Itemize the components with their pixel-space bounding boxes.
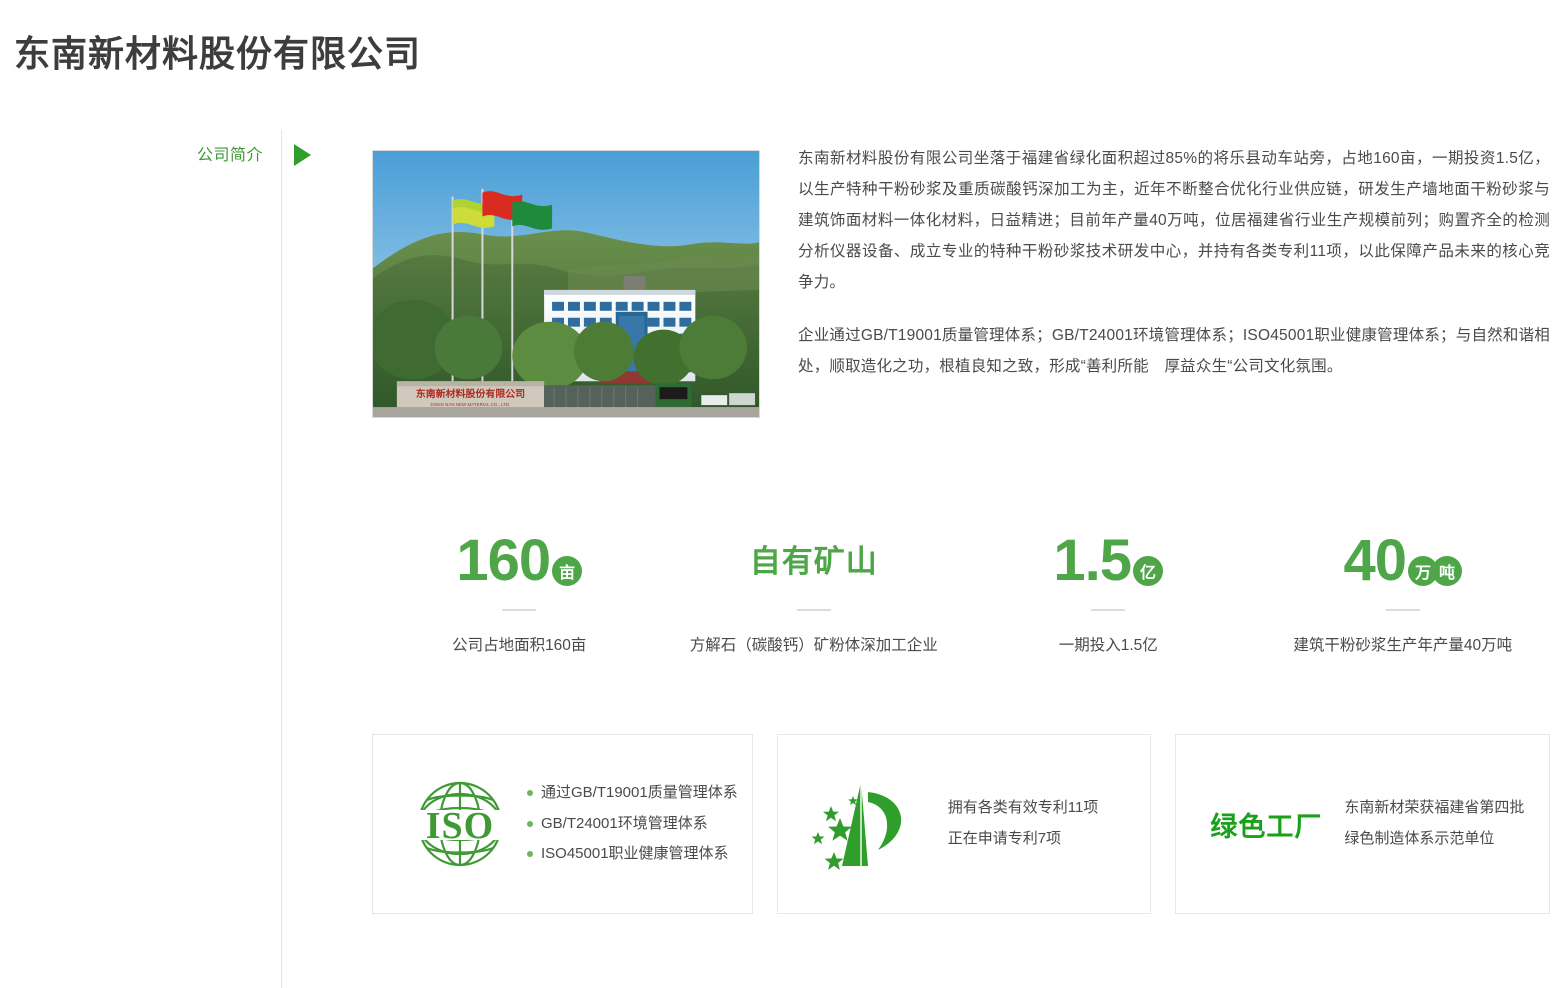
stat-headline: 160 亩 — [372, 525, 667, 597]
stat-headline: 自有矿山 — [667, 525, 962, 597]
iso-certification-card: ISO 通过GB/T19001质量管理体系 GB/T24001环境管理体系 IS… — [372, 734, 753, 914]
vertical-divider — [281, 130, 282, 988]
list-item: 通过GB/T19001质量管理体系 — [541, 778, 738, 809]
stat-item: 40 万 吨 建筑干粉砂浆生产年产量40万吨 — [1256, 525, 1551, 655]
patent-card-body: 拥有各类有效专利11项 正在申请专利7项 — [930, 793, 1137, 855]
stat-unit-badge: 亿 — [1133, 556, 1163, 586]
svg-text:ISO: ISO — [426, 805, 494, 847]
stat-divider — [797, 609, 831, 611]
green-factory-line-1: 东南新材荣获福建省第四批 — [1344, 793, 1535, 824]
list-item: ISO45001职业健康管理体系 — [541, 839, 738, 870]
stat-unit-badge: 吨 — [1432, 556, 1462, 586]
stats-row: 160 亩 公司占地面积160亩 自有矿山 方解石（碳酸钙）矿粉体深加工企业 1… — [372, 525, 1550, 655]
stat-headline: 1.5 亿 — [961, 525, 1256, 597]
svg-text:DONG NAN NEW MATERIAL CO., LTD: DONG NAN NEW MATERIAL CO., LTD. — [431, 402, 511, 407]
patent-line-1: 拥有各类有效专利11项 — [948, 793, 1137, 824]
patent-line-2: 正在申请专利7项 — [948, 824, 1137, 855]
iso-globe-icon: ISO — [387, 774, 521, 874]
iso-card-body: 通过GB/T19001质量管理体系 GB/T24001环境管理体系 ISO450… — [521, 778, 738, 870]
stat-caption: 公司占地面积160亩 — [372, 633, 667, 655]
patent-stars-icon — [792, 770, 930, 878]
stat-caption: 一期投入1.5亿 — [961, 633, 1256, 655]
stat-number: 40 — [1343, 532, 1406, 590]
green-factory-card: 绿色工厂 东南新材荣获福建省第四批 绿色制造体系示范单位 — [1175, 734, 1550, 914]
intro-text-block: 东南新材料股份有限公司坐落于福建省绿化面积超过85%的将乐县动车站旁，占地160… — [798, 143, 1550, 382]
stat-item: 160 亩 公司占地面积160亩 — [372, 525, 667, 655]
intro-paragraph-2: 企业通过GB/T19001质量管理体系；GB/T24001环境管理体系；ISO4… — [798, 320, 1550, 382]
page-title: 东南新材料股份有限公司 — [14, 30, 421, 79]
stat-number: 1.5 — [1053, 532, 1131, 590]
stat-unit-badge: 亩 — [552, 556, 582, 586]
list-item: GB/T24001环境管理体系 — [541, 809, 738, 840]
green-factory-mark: 绿色工厂 — [1210, 805, 1322, 844]
stat-headline: 40 万 吨 — [1256, 525, 1551, 597]
sidebar-item-company-intro[interactable]: 公司简介 — [197, 141, 263, 165]
stat-divider — [502, 609, 536, 611]
intro-paragraph-1: 东南新材料股份有限公司坐落于福建省绿化面积超过85%的将乐县动车站旁，占地160… — [798, 143, 1550, 298]
stat-number: 160 — [456, 532, 550, 590]
cards-row: ISO 通过GB/T19001质量管理体系 GB/T24001环境管理体系 IS… — [372, 734, 1550, 914]
left-rail: 公司简介 — [0, 130, 290, 988]
play-triangle-icon[interactable] — [294, 144, 311, 166]
stat-caption: 建筑干粉砂浆生产年产量40万吨 — [1256, 633, 1551, 655]
stat-item: 1.5 亿 一期投入1.5亿 — [961, 525, 1256, 655]
stat-divider — [1386, 609, 1420, 611]
stat-caption: 方解石（碳酸钙）矿粉体深加工企业 — [667, 633, 962, 655]
stat-word: 自有矿山 — [750, 546, 878, 577]
stat-divider — [1091, 609, 1125, 611]
stat-item: 自有矿山 方解石（碳酸钙）矿粉体深加工企业 — [667, 525, 962, 655]
company-campus-photo: 东南新材料股份有限公司 DONG NAN NEW MATERIAL CO., L… — [372, 150, 760, 418]
svg-text:东南新材料股份有限公司: 东南新材料股份有限公司 — [416, 387, 525, 400]
green-factory-line-2: 绿色制造体系示范单位 — [1344, 824, 1535, 855]
iso-list: 通过GB/T19001质量管理体系 GB/T24001环境管理体系 ISO450… — [521, 778, 738, 870]
green-factory-card-body: 东南新材荣获福建省第四批 绿色制造体系示范单位 — [1322, 793, 1535, 855]
patent-card: 拥有各类有效专利11项 正在申请专利7项 — [777, 734, 1152, 914]
intro-row: 东南新材料股份有限公司 DONG NAN NEW MATERIAL CO., L… — [372, 130, 1550, 420]
green-factory-mark-wrap: 绿色工厂 — [1190, 805, 1322, 844]
content-area: 东南新材料股份有限公司 DONG NAN NEW MATERIAL CO., L… — [372, 130, 1550, 420]
